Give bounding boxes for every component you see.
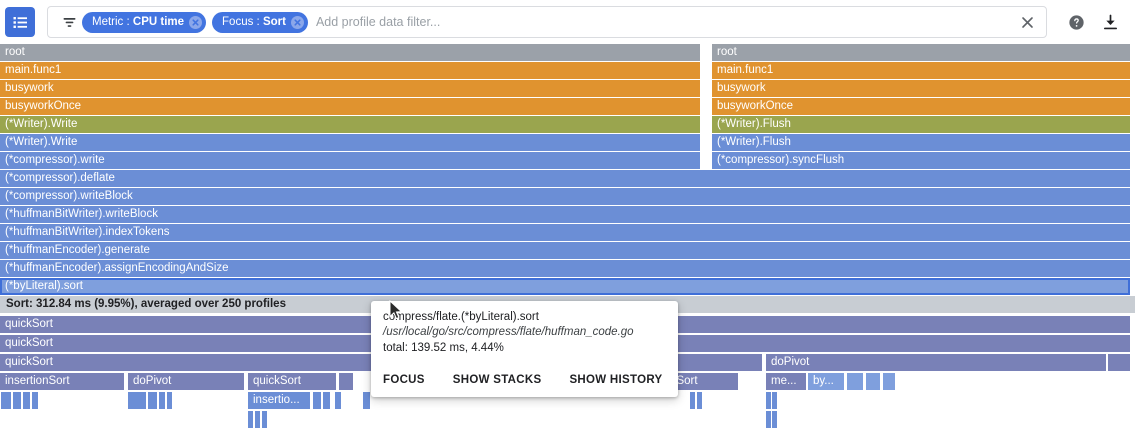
flame-frame[interactable] (847, 373, 863, 390)
flame-frame[interactable]: (*compressor).writeBlock (0, 188, 1130, 205)
flame-frame[interactable]: (*Writer).Write (0, 134, 700, 151)
flame-frame[interactable]: (*compressor).deflate (0, 170, 1130, 187)
flame-frame[interactable]: busyworkOnce (712, 98, 1130, 115)
tooltip-actions: FOCUS SHOW STACKS SHOW HISTORY (371, 365, 678, 397)
flame-frame[interactable] (262, 411, 267, 428)
flame-frame[interactable]: insertionSort (0, 373, 124, 390)
flame-frame[interactable]: by... (808, 373, 844, 390)
flame-frame[interactable] (248, 411, 253, 428)
download-icon (1102, 14, 1119, 31)
flame-frame[interactable] (32, 392, 38, 409)
flame-frame[interactable]: quickSort (248, 373, 336, 390)
flame-frame[interactable] (23, 392, 30, 409)
flame-frame[interactable]: (*byLiteral).sort (0, 278, 1130, 295)
flame-frame[interactable] (339, 373, 353, 390)
toolbar: Metric : CPU time Focus : Sort (0, 0, 1135, 44)
filter-glyph (62, 15, 77, 30)
tooltip-body: compress/flate.(*byLiteral).sort /usr/lo… (371, 310, 678, 365)
flame-frame[interactable] (313, 392, 321, 409)
close-icon (1020, 15, 1035, 30)
flame-frame[interactable] (772, 392, 777, 409)
list-icon (12, 14, 29, 31)
flame-frame[interactable]: root (0, 44, 700, 61)
chip-remove-icon[interactable] (189, 16, 202, 29)
flame-frame[interactable] (363, 392, 370, 409)
flame-frame[interactable]: (*compressor).write (0, 152, 700, 169)
flame-frame[interactable]: doPivot (128, 373, 244, 390)
search-input[interactable] (314, 8, 1012, 36)
show-history-button[interactable]: SHOW HISTORY (567, 372, 664, 388)
tooltip-file-path: /usr/local/go/src/compress/flate/huffman… (383, 325, 666, 340)
flame-frame[interactable]: (*huffmanEncoder).generate (0, 242, 1130, 259)
flame-frame[interactable]: busywork (0, 80, 700, 97)
flame-frame[interactable]: busyworkOnce (0, 98, 700, 115)
flame-frame[interactable]: doPivot (766, 354, 1106, 371)
flame-frame[interactable] (128, 392, 146, 409)
flame-frame[interactable] (335, 392, 341, 409)
flame-frame[interactable]: (*Writer).Flush (712, 134, 1130, 151)
frame-tooltip: compress/flate.(*byLiteral).sort /usr/lo… (371, 301, 678, 397)
flame-frame[interactable] (148, 392, 157, 409)
menu-button[interactable] (5, 7, 35, 37)
filter-bar: Metric : CPU time Focus : Sort (47, 6, 1047, 38)
focus-button[interactable]: FOCUS (381, 372, 427, 388)
flame-frame[interactable]: (*Writer).Flush (712, 116, 1130, 133)
flame-frame[interactable]: (*huffmanBitWriter).writeBlock (0, 206, 1130, 223)
flame-frame[interactable] (766, 392, 771, 409)
help-icon (1068, 14, 1085, 31)
flame-frame[interactable] (159, 392, 165, 409)
show-stacks-button[interactable]: SHOW STACKS (451, 372, 544, 388)
flame-frame[interactable] (1, 392, 11, 409)
flame-frame[interactable] (1108, 354, 1130, 371)
close-glyph (191, 18, 200, 27)
flame-frame[interactable] (697, 392, 702, 409)
flame-frame[interactable] (167, 392, 172, 409)
flame-frame[interactable] (866, 373, 880, 390)
flame-frame[interactable]: main.func1 (712, 62, 1130, 79)
flame-frame[interactable] (766, 411, 771, 428)
tooltip-function-name: compress/flate.(*byLiteral).sort (383, 310, 666, 325)
profiler-app: Metric : CPU time Focus : Sort (0, 0, 1135, 433)
close-glyph (293, 18, 302, 27)
help-button[interactable] (1059, 5, 1093, 39)
download-button[interactable] (1093, 5, 1127, 39)
tooltip-total-value: total: 139.52 ms, 4.44% (383, 341, 666, 356)
chip-label: Focus : Sort (222, 16, 286, 28)
flame-frame[interactable]: insertio... (248, 392, 310, 409)
filter-chip-metric[interactable]: Metric : CPU time (82, 12, 206, 33)
flame-frame[interactable] (13, 392, 21, 409)
flame-frame[interactable]: main.func1 (0, 62, 700, 79)
flame-frame[interactable] (255, 411, 260, 428)
flame-frame[interactable] (772, 411, 777, 428)
flame-frame[interactable]: (*Writer).Write (0, 116, 700, 133)
filter-icon[interactable] (56, 15, 82, 30)
flame-frame[interactable]: busywork (712, 80, 1130, 97)
chip-label: Metric : CPU time (92, 16, 184, 28)
flame-frame[interactable] (690, 392, 695, 409)
clear-filter-button[interactable] (1012, 7, 1042, 37)
flame-frame[interactable]: (*huffmanBitWriter).indexTokens (0, 224, 1130, 241)
flame-frame[interactable]: (*huffmanEncoder).assignEncodingAndSize (0, 260, 1130, 277)
flame-frame[interactable]: root (712, 44, 1130, 61)
flame-frame[interactable] (323, 392, 330, 409)
flame-frame[interactable]: (*compressor).syncFlush (712, 152, 1130, 169)
filter-chip-focus[interactable]: Focus : Sort (212, 12, 308, 33)
flame-frame[interactable] (883, 373, 895, 390)
flame-frame[interactable]: me... (766, 373, 806, 390)
chip-remove-icon[interactable] (291, 16, 304, 29)
